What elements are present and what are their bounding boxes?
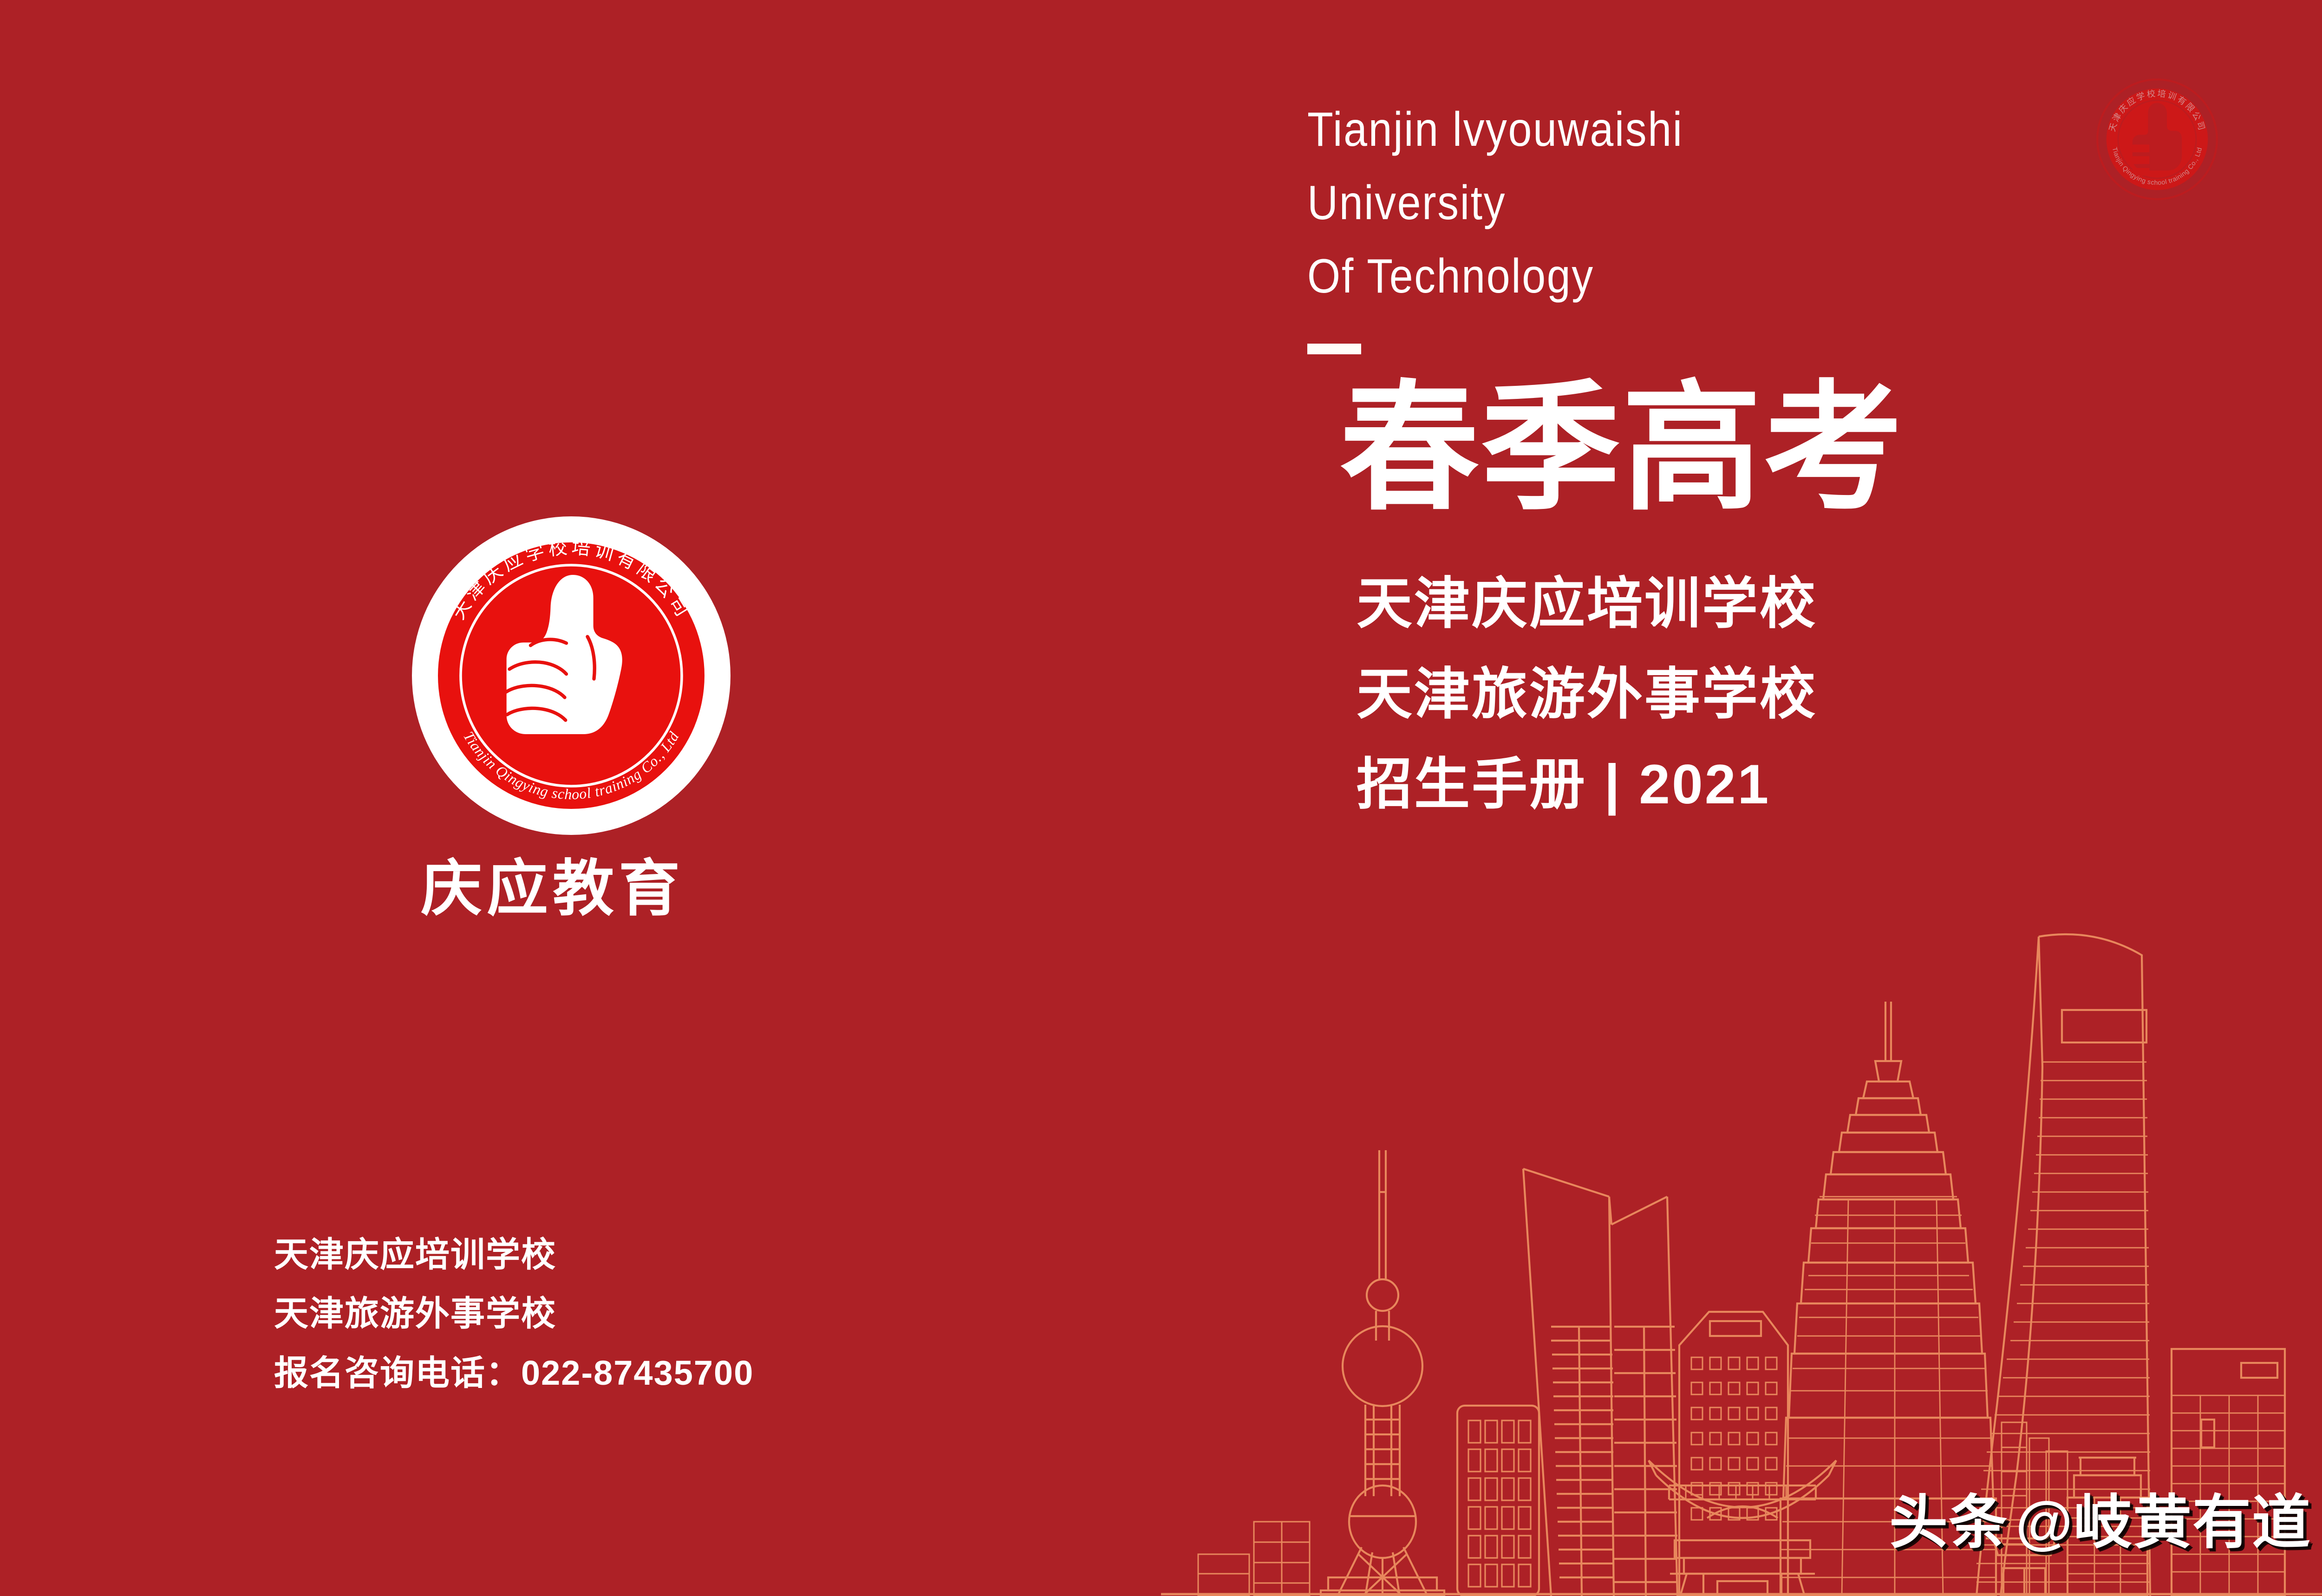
english-title-line-1: Tianjin lvyouwaishi <box>1307 93 2125 166</box>
english-title-line-2: University <box>1307 166 2125 240</box>
mid-rise-block-a <box>1457 1406 1539 1596</box>
subtitle-line-1: 天津庆应培训学校 <box>1357 559 2236 649</box>
contact-school-1: 天津庆应培训学校 <box>274 1225 754 1284</box>
subtitle-line-3: 招生手册 | 2021 <box>1357 739 2236 829</box>
left-low-buildings <box>1198 1522 1310 1596</box>
watermark-handle: @岐黄有道 <box>2015 1490 2311 1555</box>
decorative-rule <box>1307 344 1361 354</box>
poster-canvas: 天津庆应学校培训有限公司 Tianjin Qingying school tra… <box>0 0 2322 1596</box>
contact-school-2: 天津旅游外事学校 <box>274 1284 754 1343</box>
source-watermark: 头条@岐黄有道 <box>1889 1475 2311 1560</box>
curved-roof-pavilion <box>1649 1460 1836 1596</box>
world-financial-center <box>1523 1169 1677 1596</box>
right-content-column: Tianjin lvyouwaishi University Of Techno… <box>1307 93 2236 829</box>
main-headline: 春季高考 <box>1340 370 2236 526</box>
brand-seal-logo: 天津庆应学校培训有限公司 Tianjin Qingying school tra… <box>409 513 734 838</box>
oriental-pearl-tower <box>1321 1150 1444 1596</box>
subtitle-block: 天津庆应培训学校 天津旅游外事学校 招生手册 | 2021 <box>1357 559 2236 829</box>
contact-phone: 报名咨询电话：022-87435700 <box>274 1343 754 1402</box>
watermark-platform: 头条 <box>1889 1490 2008 1555</box>
hotel-block <box>1679 1312 1788 1596</box>
english-title-line-3: Of Technology <box>1307 240 2125 313</box>
contact-block: 天津庆应培训学校 天津旅游外事学校 报名咨询电话：022-87435700 <box>274 1225 754 1402</box>
subtitle-line-2: 天津旅游外事学校 <box>1357 649 2236 739</box>
brand-name: 庆应教育 <box>0 853 1105 924</box>
